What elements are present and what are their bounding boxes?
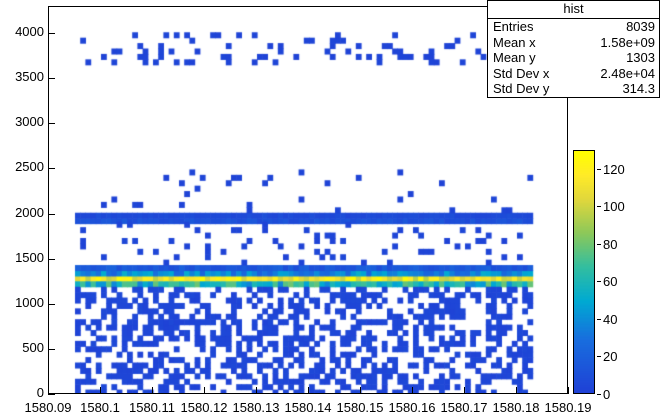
colorbar-tick-label: 0 bbox=[603, 387, 610, 402]
stats-row: Mean x1.58e+09 bbox=[488, 35, 659, 51]
x-tick-mark bbox=[308, 387, 309, 394]
x-tick-mark bbox=[152, 387, 153, 394]
stats-value: 1.58e+09 bbox=[600, 35, 655, 51]
y-tick-label: 4000 bbox=[2, 26, 44, 38]
x-tick-mark bbox=[204, 387, 205, 394]
y-tick-label: 3000 bbox=[2, 116, 44, 128]
y-tick-mark bbox=[48, 214, 55, 215]
y-tick-label: 3500 bbox=[2, 71, 44, 83]
stats-value: 1303 bbox=[626, 50, 655, 66]
colorbar-tick-label: 100 bbox=[603, 199, 625, 214]
stats-value: 314.3 bbox=[622, 81, 655, 97]
x-tick-label: 1580.19 bbox=[538, 400, 598, 415]
stats-title: hist bbox=[488, 1, 659, 19]
stats-key: Std Dev x bbox=[493, 66, 549, 82]
x-tick-label: 1580.16 bbox=[382, 400, 442, 415]
x-tick-label: 1580.09 bbox=[18, 400, 78, 415]
x-axis-labels: 1580.091580.11580.111580.121580.131580.1… bbox=[0, 396, 660, 416]
stats-key: Std Dev y bbox=[493, 81, 549, 97]
y-tick-mark bbox=[48, 123, 55, 124]
x-tick-label: 1580.13 bbox=[226, 400, 286, 415]
y-tick-mark bbox=[48, 304, 55, 305]
stats-row: Mean y1303 bbox=[488, 50, 659, 66]
chart-root: 05001000150020002500300035004000 1580.09… bbox=[0, 0, 660, 419]
x-tick-label: 1580.1 bbox=[70, 400, 130, 415]
x-tick-label: 1580.14 bbox=[278, 400, 338, 415]
x-tick-mark bbox=[464, 387, 465, 394]
y-tick-mark bbox=[48, 78, 55, 79]
y-tick-mark bbox=[48, 394, 55, 395]
y-tick-label: 500 bbox=[2, 342, 44, 354]
colorbar-tick-mark bbox=[597, 319, 601, 320]
y-tick-mark bbox=[48, 259, 55, 260]
y-tick-label: 2000 bbox=[2, 207, 44, 219]
x-tick-mark bbox=[568, 387, 569, 394]
stats-value: 8039 bbox=[626, 19, 655, 35]
stats-key: Entries bbox=[493, 19, 533, 35]
x-tick-label: 1580.17 bbox=[434, 400, 494, 415]
x-tick-label: 1580.15 bbox=[330, 400, 390, 415]
stats-key: Mean y bbox=[493, 50, 536, 66]
y-axis-labels: 05001000150020002500300035004000 bbox=[0, 0, 44, 400]
x-tick-label: 1580.18 bbox=[486, 400, 546, 415]
stats-row: Entries8039 bbox=[488, 19, 659, 35]
colorbar-labels: 020406080100120 bbox=[597, 140, 657, 410]
stats-key: Mean x bbox=[493, 35, 536, 51]
colorbar-tick-label: 40 bbox=[603, 312, 617, 327]
x-tick-label: 1580.11 bbox=[122, 400, 182, 415]
y-tick-label: 2500 bbox=[2, 161, 44, 173]
colorbar-tick-label: 120 bbox=[603, 162, 625, 177]
stats-row: Std Dev x2.48e+04 bbox=[488, 66, 659, 82]
stats-value: 2.48e+04 bbox=[600, 66, 655, 82]
y-tick-mark bbox=[48, 33, 55, 34]
colorbar-tick-mark bbox=[597, 206, 601, 207]
colorbar bbox=[573, 150, 595, 394]
x-tick-label: 1580.12 bbox=[174, 400, 234, 415]
stats-rows: Entries8039Mean x1.58e+09Mean y1303Std D… bbox=[488, 19, 659, 97]
colorbar-tick-mark bbox=[597, 281, 601, 282]
colorbar-tick-label: 60 bbox=[603, 274, 617, 289]
y-tick-mark bbox=[48, 349, 55, 350]
x-tick-mark bbox=[100, 387, 101, 394]
colorbar-tick-label: 20 bbox=[603, 349, 617, 364]
x-tick-mark bbox=[412, 387, 413, 394]
colorbar-tick-mark bbox=[597, 356, 601, 357]
x-tick-mark bbox=[256, 387, 257, 394]
x-tick-mark bbox=[360, 387, 361, 394]
y-tick-mark bbox=[48, 168, 55, 169]
x-tick-mark bbox=[516, 387, 517, 394]
colorbar-canvas bbox=[574, 151, 594, 393]
colorbar-tick-mark bbox=[597, 394, 601, 395]
x-tick-mark bbox=[48, 387, 49, 394]
y-tick-label: 1000 bbox=[2, 297, 44, 309]
colorbar-tick-mark bbox=[597, 169, 601, 170]
stats-box: hist Entries8039Mean x1.58e+09Mean y1303… bbox=[487, 0, 660, 98]
y-tick-label: 1500 bbox=[2, 252, 44, 264]
colorbar-tick-label: 80 bbox=[603, 237, 617, 252]
colorbar-tick-mark bbox=[597, 244, 601, 245]
stats-row: Std Dev y314.3 bbox=[488, 81, 659, 97]
